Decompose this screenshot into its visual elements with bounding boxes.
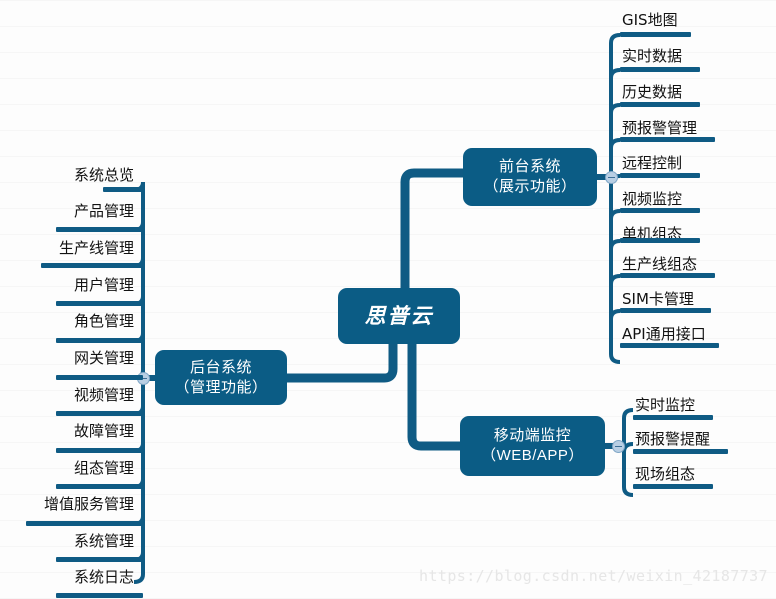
leaf-label[interactable]: 预报警提醒	[635, 432, 710, 447]
leaf-underline	[620, 173, 700, 178]
leaf-label[interactable]: 视频监控	[622, 192, 682, 207]
leaf-label[interactable]: 生产线管理	[59, 241, 134, 256]
leaf-label[interactable]: 生产线组态	[622, 257, 697, 272]
watermark-text: https://blog.csdn.net/weixin_42187737	[419, 567, 768, 585]
leaf-label[interactable]: 角色管理	[74, 314, 134, 329]
leaf-label[interactable]: 系统日志	[74, 570, 134, 585]
collapse-toggle-mobile[interactable]	[612, 440, 625, 453]
branch-node-mobile[interactable]: 移动端监控 （WEB/APP）	[460, 416, 605, 476]
leaf-underline	[26, 521, 143, 526]
leaf-underline	[620, 137, 715, 142]
leaf-label[interactable]: 预报警管理	[622, 121, 697, 136]
leaf-label[interactable]: 网关管理	[74, 351, 134, 366]
leaf-label[interactable]: SIM卡管理	[622, 292, 694, 307]
leaf-underline	[620, 273, 715, 278]
leaf-underline	[56, 227, 143, 232]
mindmap-canvas: 思普云 后台系统 （管理功能） 前台系统 （展示功能） 移动端监控 （WEB/A…	[0, 0, 776, 599]
root-node-label: 思普云	[365, 302, 434, 330]
leaf-underline	[620, 32, 691, 37]
leaf-underline	[56, 448, 143, 453]
leaf-label[interactable]: GIS地图	[622, 13, 678, 28]
leaf-label[interactable]: 实时监控	[635, 398, 695, 413]
leaf-underline	[620, 208, 700, 213]
leaf-underline	[56, 301, 143, 306]
leaf-underline	[56, 593, 143, 598]
leaf-underline	[41, 263, 143, 268]
leaf-underline	[633, 449, 728, 454]
leaf-label[interactable]: 历史数据	[622, 85, 682, 100]
leaf-underline	[620, 102, 700, 107]
leaf-underline	[633, 415, 713, 420]
leaf-underline	[620, 308, 711, 313]
branch-node-frontend-line2: （展示功能）	[483, 177, 576, 197]
leaf-label[interactable]: 用户管理	[74, 278, 134, 293]
leaf-underline	[620, 343, 719, 348]
branch-node-mobile-line1: 移动端监控	[494, 426, 572, 446]
leaf-label[interactable]: 视频管理	[74, 388, 134, 403]
branch-node-frontend[interactable]: 前台系统 （展示功能）	[463, 148, 597, 206]
leaf-label[interactable]: API通用接口	[622, 327, 706, 342]
leaf-label[interactable]: 产品管理	[74, 204, 134, 219]
leaf-underline	[620, 67, 700, 72]
leaf-label[interactable]: 系统管理	[74, 534, 134, 549]
leaf-underline	[56, 557, 143, 562]
leaf-underline	[56, 338, 143, 343]
leaf-label[interactable]: 远程控制	[622, 156, 682, 171]
branch-node-mobile-line2: （WEB/APP）	[481, 446, 584, 466]
leaf-underline	[56, 484, 143, 489]
leaf-underline	[620, 238, 700, 243]
leaf-underline	[103, 187, 143, 192]
root-node[interactable]: 思普云	[338, 288, 460, 344]
leaf-underline	[633, 484, 713, 489]
branch-node-frontend-line1: 前台系统	[499, 157, 561, 177]
leaf-label[interactable]: 实时数据	[622, 49, 682, 64]
leaf-label[interactable]: 增值服务管理	[44, 497, 134, 512]
branch-node-backend-line2: （管理功能）	[174, 378, 267, 398]
leaf-label[interactable]: 系统总览	[74, 168, 134, 183]
collapse-toggle-frontend[interactable]	[605, 171, 618, 184]
leaf-underline	[56, 375, 143, 380]
leaf-underline	[56, 411, 143, 416]
leaf-label[interactable]: 故障管理	[74, 424, 134, 439]
leaf-label[interactable]: 组态管理	[74, 461, 134, 476]
leaf-label[interactable]: 现场组态	[635, 467, 695, 482]
branch-node-backend[interactable]: 后台系统 （管理功能）	[155, 350, 287, 405]
branch-node-backend-line1: 后台系统	[190, 358, 252, 378]
